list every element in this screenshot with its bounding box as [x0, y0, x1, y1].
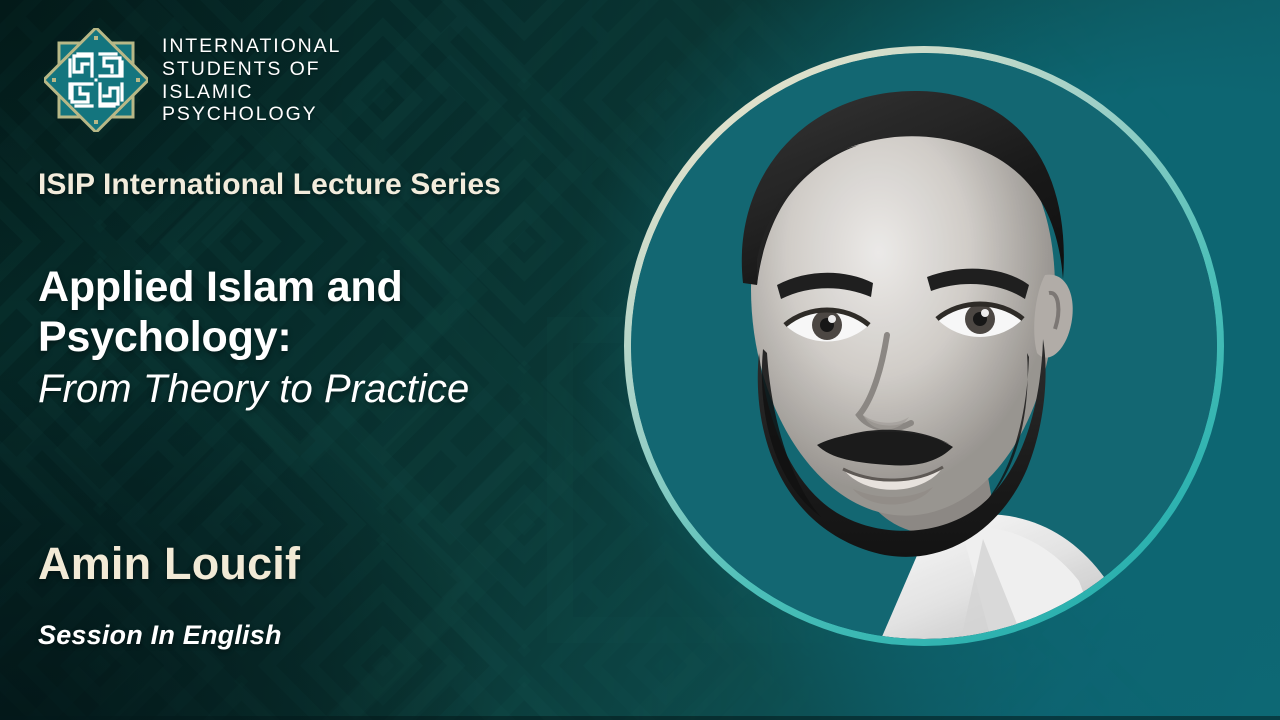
org-name-line-2: STUDENTS OF [162, 59, 341, 81]
organization-logo: INTERNATIONAL STUDENTS OF ISLAMIC PSYCHO… [44, 28, 341, 132]
session-language-label: Session In English [38, 620, 282, 651]
organization-name: INTERNATIONAL STUDENTS OF ISLAMIC PSYCHO… [162, 34, 341, 126]
org-name-line-1: INTERNATIONAL [162, 36, 341, 58]
speaker-name: Amin Loucif [38, 538, 300, 590]
bottom-edge-bar [0, 716, 1280, 720]
lecture-series-label: ISIP International Lecture Series [38, 168, 501, 202]
speaker-portrait-photo [631, 53, 1217, 639]
title-subtitle: From Theory to Practice [38, 365, 618, 414]
eight-point-star-kufic-logo-icon [44, 28, 148, 132]
lecture-announcement-slide: INTERNATIONAL STUDENTS OF ISLAMIC PSYCHO… [0, 0, 1280, 720]
title-line-1: Applied Islam and [38, 262, 618, 312]
speaker-portrait [624, 46, 1224, 646]
org-name-line-4: PSYCHOLOGY [162, 104, 341, 126]
portrait-photo-clip [631, 53, 1217, 639]
org-name-line-3: ISLAMIC [162, 82, 341, 104]
title-line-2: Psychology: [38, 312, 618, 362]
lecture-title: Applied Islam and Psychology: From Theor… [38, 262, 618, 413]
